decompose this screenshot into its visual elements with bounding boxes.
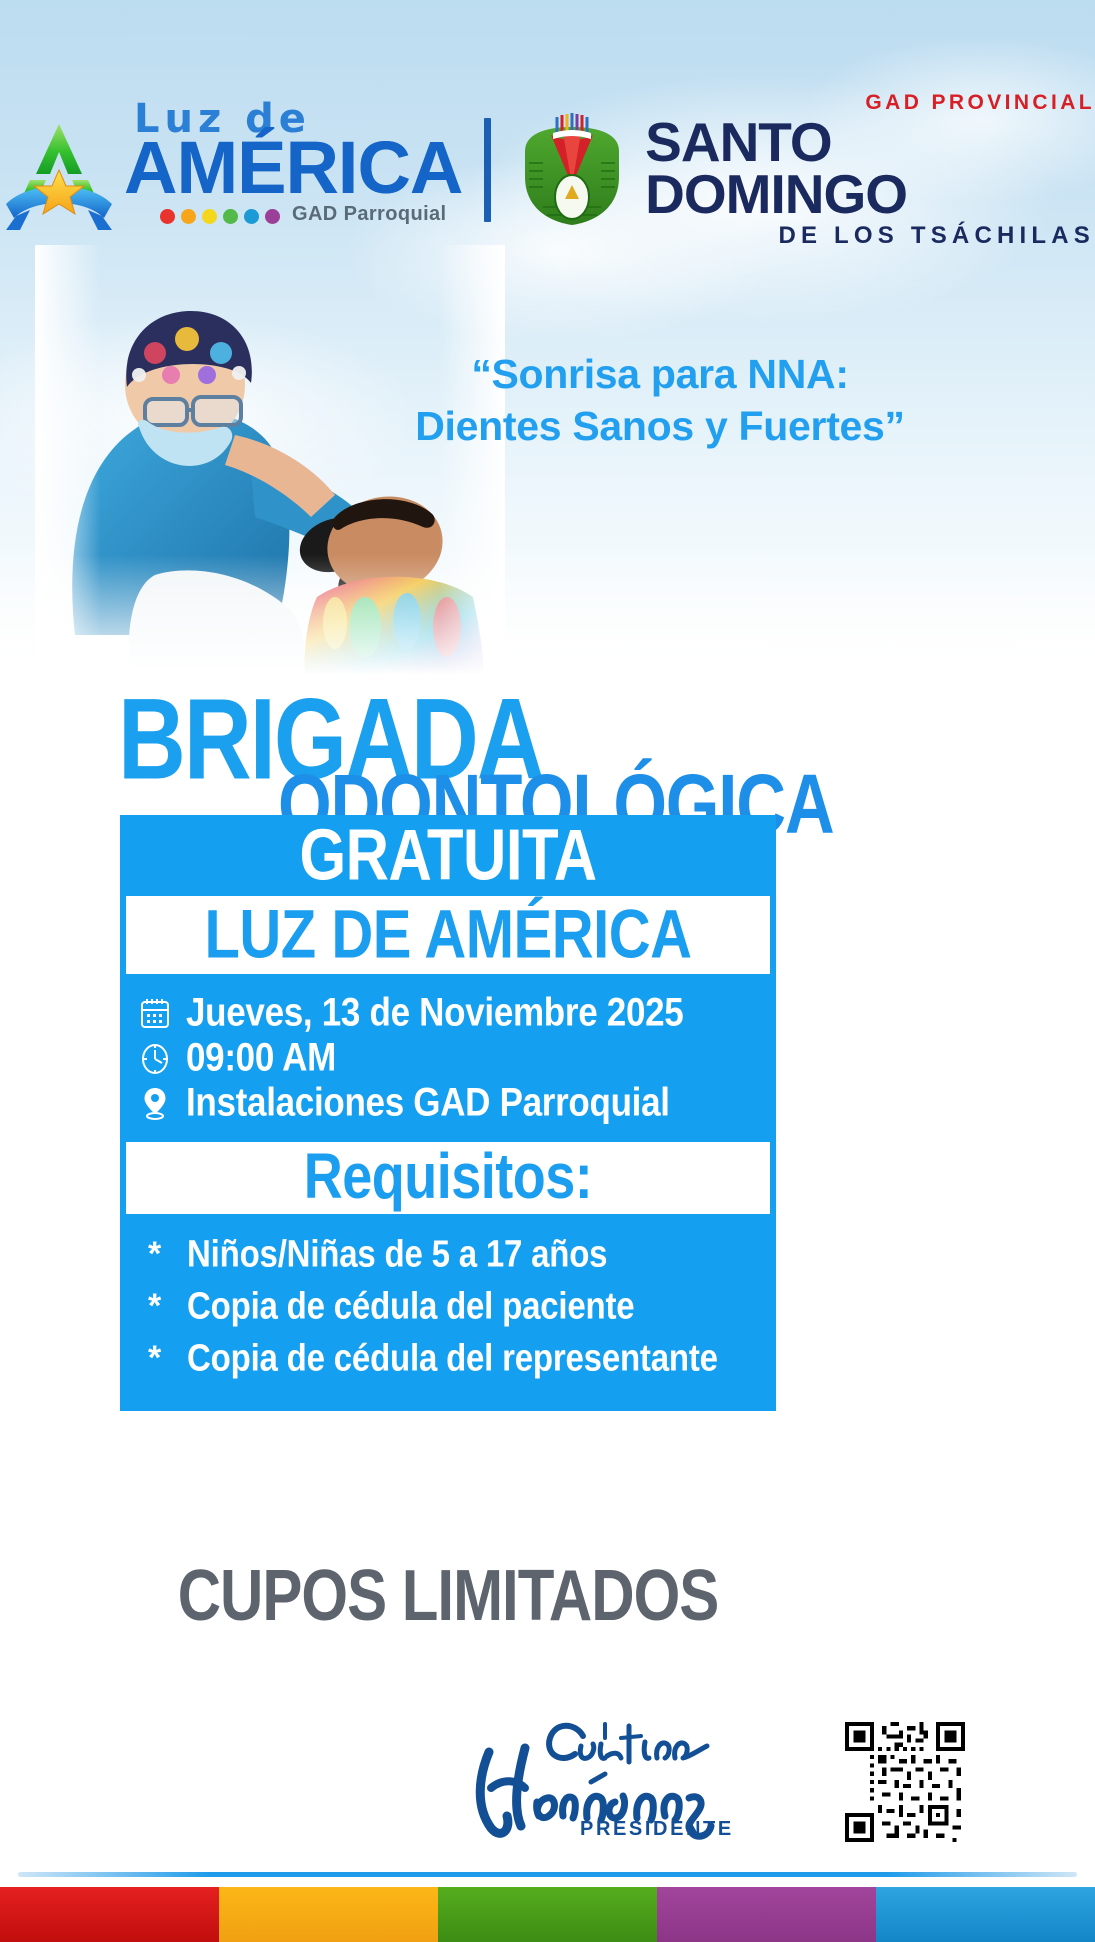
requirement-text: Niños/Niñas de 5 a 17 años	[187, 1233, 607, 1276]
footer-colorbar	[0, 1887, 1095, 1942]
gad-provincial-text: GAD PROVINCIAL	[645, 92, 1095, 113]
requirement-text: Copia de cédula del paciente	[187, 1285, 634, 1328]
requirement-item: * Copia de cédula del paciente	[148, 1287, 776, 1325]
slogan-line-2: Dientes Sanos y Fuertes”	[380, 400, 940, 452]
bullet-star-icon: *	[148, 1289, 161, 1323]
bullet-star-icon: *	[148, 1341, 161, 1375]
dot-orange	[181, 209, 196, 224]
detail-location-text: Instalaciones GAD Parroquial	[186, 1082, 670, 1124]
title-gratuita: GRATUITA	[120, 807, 776, 898]
detail-date-text: Jueves, 13 de Noviembre 2025	[186, 992, 683, 1034]
a-star-icon	[0, 118, 118, 230]
requirement-item: * Copia de cédula del representante	[148, 1339, 776, 1377]
dot-green	[223, 209, 238, 224]
header-logos: Luz de AMÉRICA GAD Parroquial	[0, 105, 1095, 235]
location-pin-icon	[138, 1086, 172, 1120]
signature-role: PRESIDENTE	[580, 1818, 734, 1841]
de-los-tsachilas-text: DE LOS TSÁCHILAS	[645, 224, 1095, 248]
slogan-line-1: “Sonrisa para NNA:	[380, 348, 940, 400]
dentist-treating-child-photo	[35, 245, 505, 675]
requisitos-heading: Requisitos:	[126, 1136, 770, 1221]
logo-divider	[484, 118, 491, 222]
title-location-band: LUZ DE AMÉRICA	[126, 896, 770, 974]
event-info-panel: GRATUITA LUZ DE AMÉRICA	[120, 815, 776, 1411]
colorbar-blue	[876, 1887, 1095, 1942]
colorbar-purple	[657, 1887, 876, 1942]
dot-purple	[265, 209, 280, 224]
colorbar-yellow	[219, 1887, 438, 1942]
logo-america-text: AMÉRICA	[124, 133, 462, 203]
colorbar-red	[0, 1887, 219, 1942]
colorbar-green	[438, 1887, 657, 1942]
requisitos-band: Requisitos:	[126, 1142, 770, 1214]
footer-rule	[18, 1872, 1077, 1877]
poster: Luz de AMÉRICA GAD Parroquial	[0, 0, 1095, 1942]
title-luz-de-america: LUZ DE AMÉRICA	[126, 889, 770, 981]
cupos-limitados-notice: CUPOS LIMITADOS	[120, 1554, 776, 1637]
campaign-slogan: “Sonrisa para NNA: Dientes Sanos y Fuert…	[380, 348, 940, 453]
santo-domingo-logo: GAD PROVINCIAL SANTO DOMINGO DE LOS TSÁC…	[513, 110, 1095, 230]
event-details-list: Jueves, 13 de Noviembre 2025 09:00 AM	[120, 979, 776, 1137]
dot-yellow	[202, 209, 217, 224]
calendar-icon	[138, 996, 172, 1030]
tsachilas-crest-icon	[513, 111, 631, 229]
detail-row-date: Jueves, 13 de Noviembre 2025	[138, 995, 776, 1032]
logo-color-dots	[160, 209, 280, 224]
requirements-list: * Niños/Niñas de 5 a 17 años * Copia de …	[120, 1219, 776, 1405]
logo-gad-parroquial-text: GAD Parroquial	[292, 203, 447, 226]
detail-row-location: Instalaciones GAD Parroquial	[138, 1085, 776, 1122]
luz-de-america-logo: Luz de AMÉRICA GAD Parroquial	[0, 110, 462, 230]
detail-time-text: 09:00 AM	[186, 1037, 336, 1079]
requirement-text: Copia de cédula del representante	[187, 1337, 718, 1380]
clock-icon	[138, 1041, 172, 1075]
detail-row-time: 09:00 AM	[138, 1040, 776, 1077]
bullet-star-icon: *	[148, 1237, 161, 1271]
dot-red	[160, 209, 175, 224]
dot-blue	[244, 209, 259, 224]
santo-domingo-text: SANTO DOMINGO	[645, 116, 1095, 221]
requirement-item: * Niños/Niñas de 5 a 17 años	[148, 1235, 776, 1273]
qr-code[interactable]	[845, 1722, 965, 1842]
